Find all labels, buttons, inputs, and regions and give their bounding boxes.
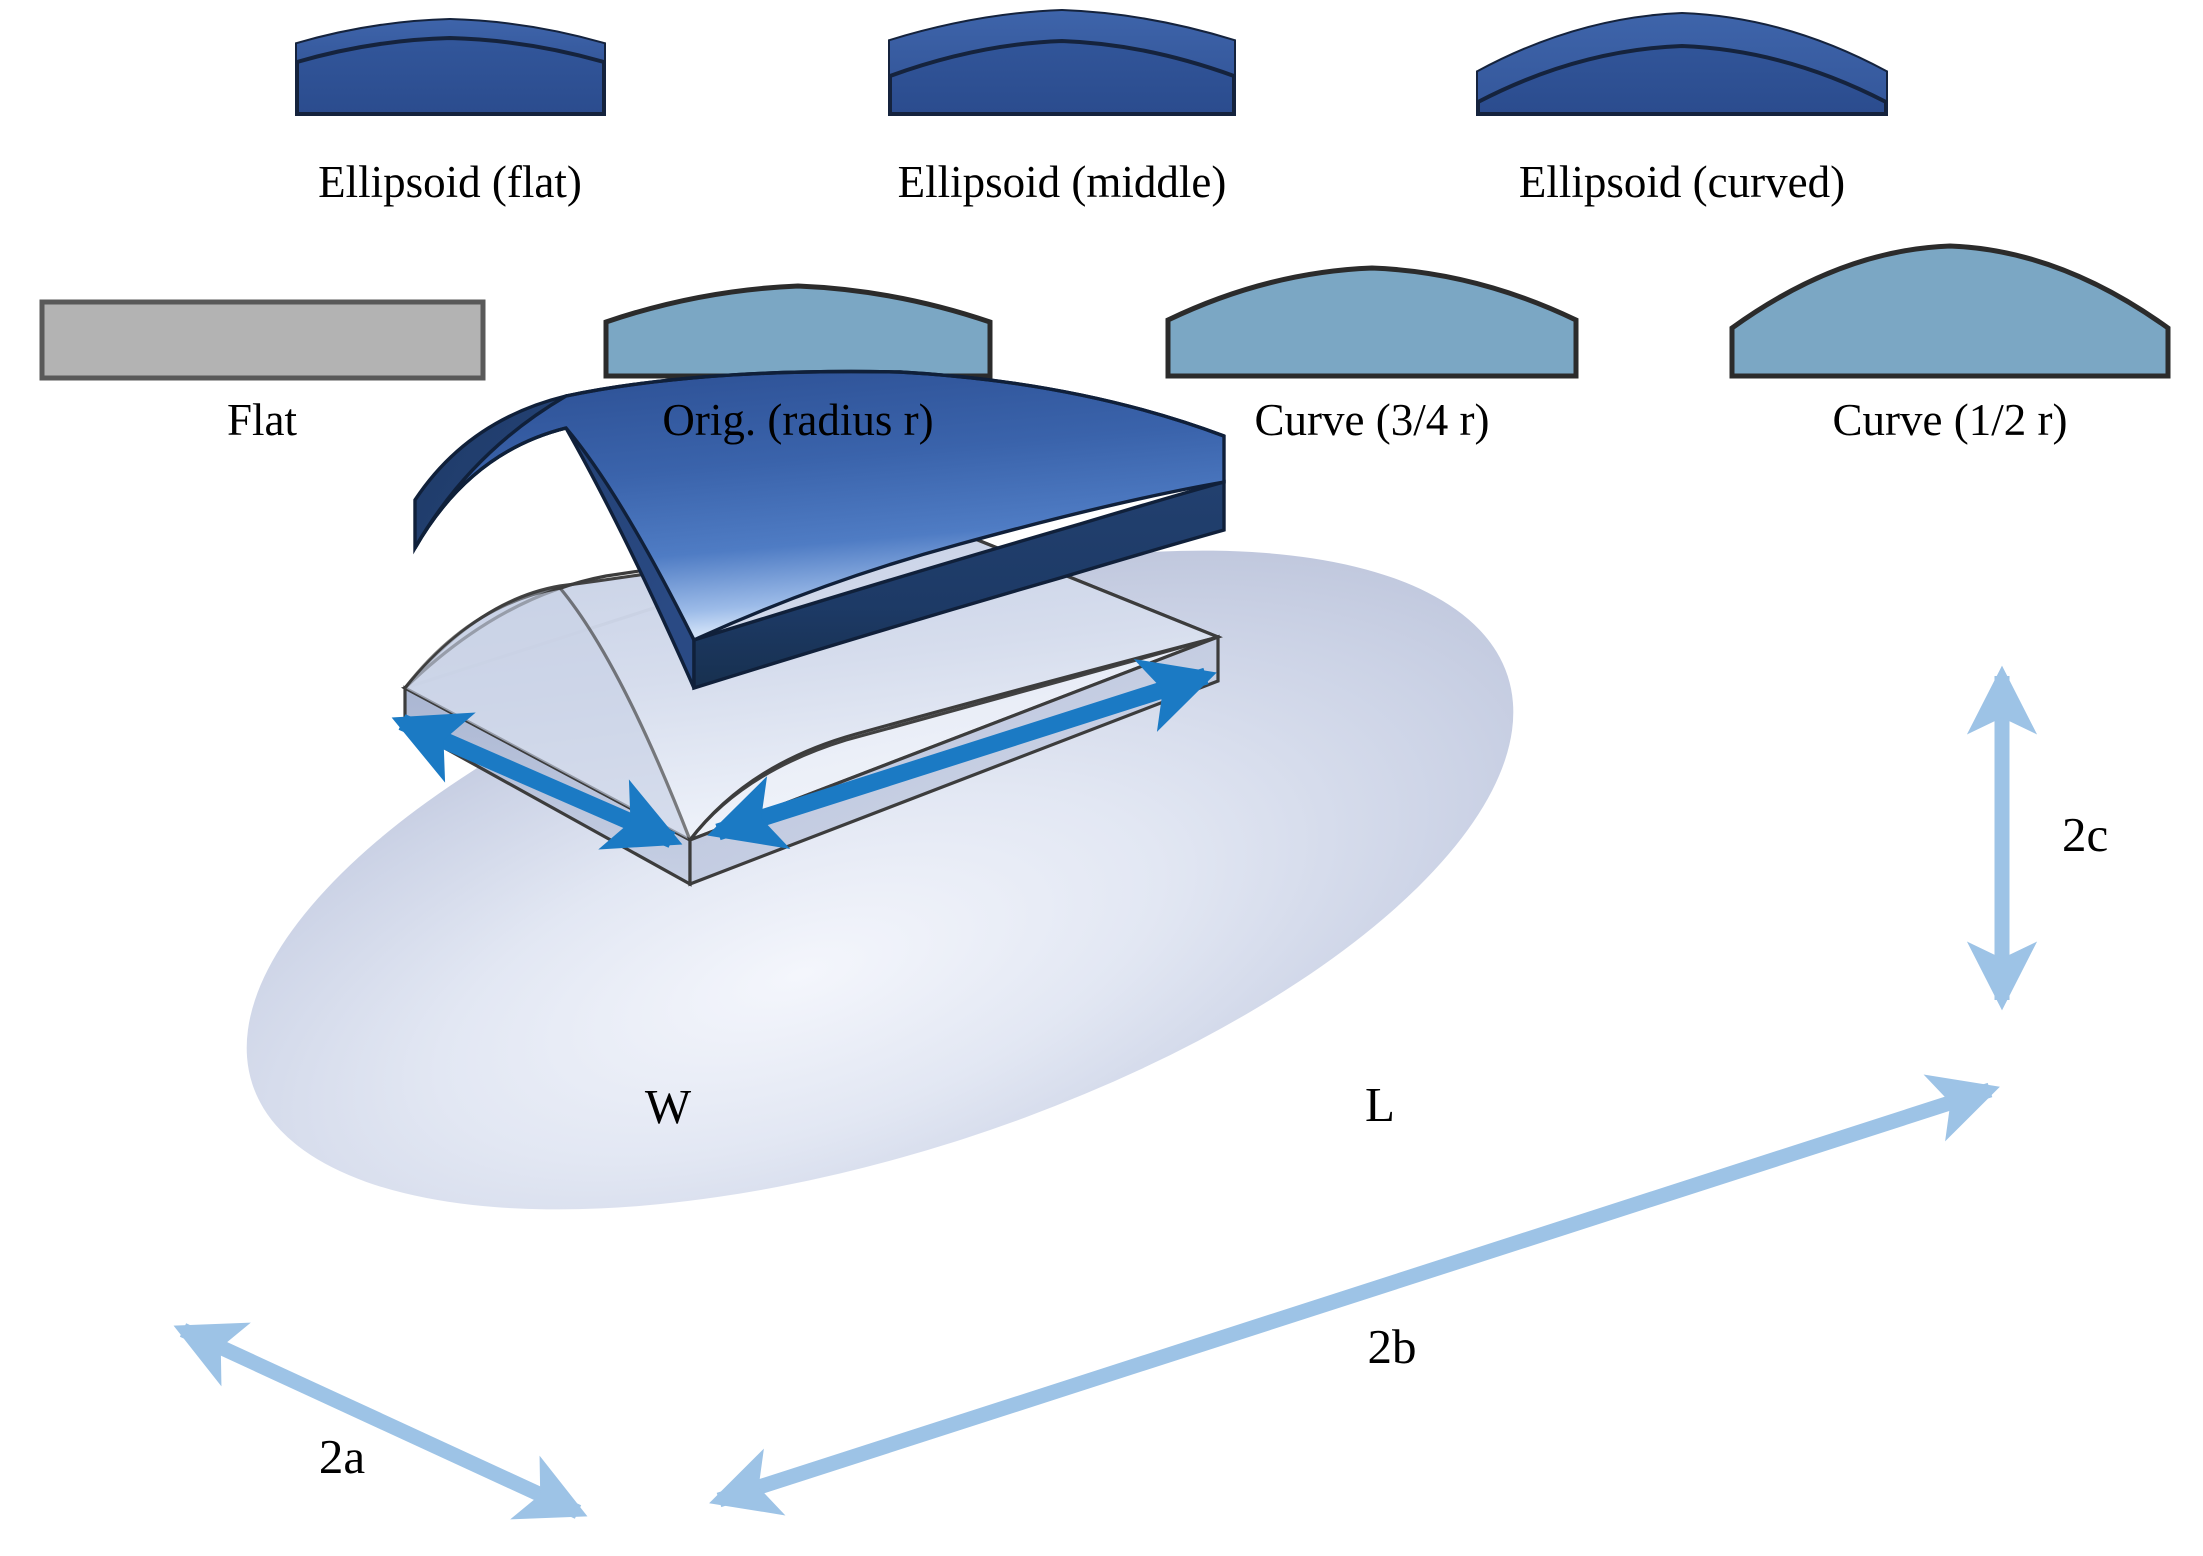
top-row-shapes <box>297 11 1886 114</box>
label-length-L: L <box>1365 1080 1395 1129</box>
label-flat: Flat <box>227 398 297 443</box>
shape-curve-1-2-r <box>1732 246 2168 376</box>
label-orig-radius-r: Orig. (radius r) <box>662 398 933 443</box>
main-3d-figure <box>168 372 1591 1343</box>
diagram-canvas: Ellipsoid (flat) Ellipsoid (middle) Elli… <box>0 0 2203 1556</box>
label-curve-1-2-r: Curve (1/2 r) <box>1833 398 2068 443</box>
label-axis-2b: 2b <box>1368 1322 1417 1371</box>
shape-orig-radius-r <box>606 286 990 376</box>
label-axis-2a: 2a <box>319 1432 365 1481</box>
label-axis-2c: 2c <box>2062 810 2108 859</box>
label-ellipsoid-flat: Ellipsoid (flat) <box>318 160 582 205</box>
label-curve-3-4-r: Curve (3/4 r) <box>1255 398 1490 443</box>
shape-flat <box>42 302 483 378</box>
bottom-row-shapes <box>42 246 2168 378</box>
label-ellipsoid-curved: Ellipsoid (curved) <box>1519 160 1845 205</box>
arrow-2a <box>183 1330 578 1512</box>
shape-ellipsoid-curved <box>1478 14 1886 114</box>
shape-ellipsoid-flat <box>297 20 604 114</box>
shape-curve-3-4-r <box>1168 268 1576 376</box>
diagram-svg <box>0 0 2203 1556</box>
label-width-W: W <box>645 1082 691 1131</box>
shape-ellipsoid-middle <box>890 11 1234 114</box>
label-ellipsoid-middle: Ellipsoid (middle) <box>898 160 1227 205</box>
